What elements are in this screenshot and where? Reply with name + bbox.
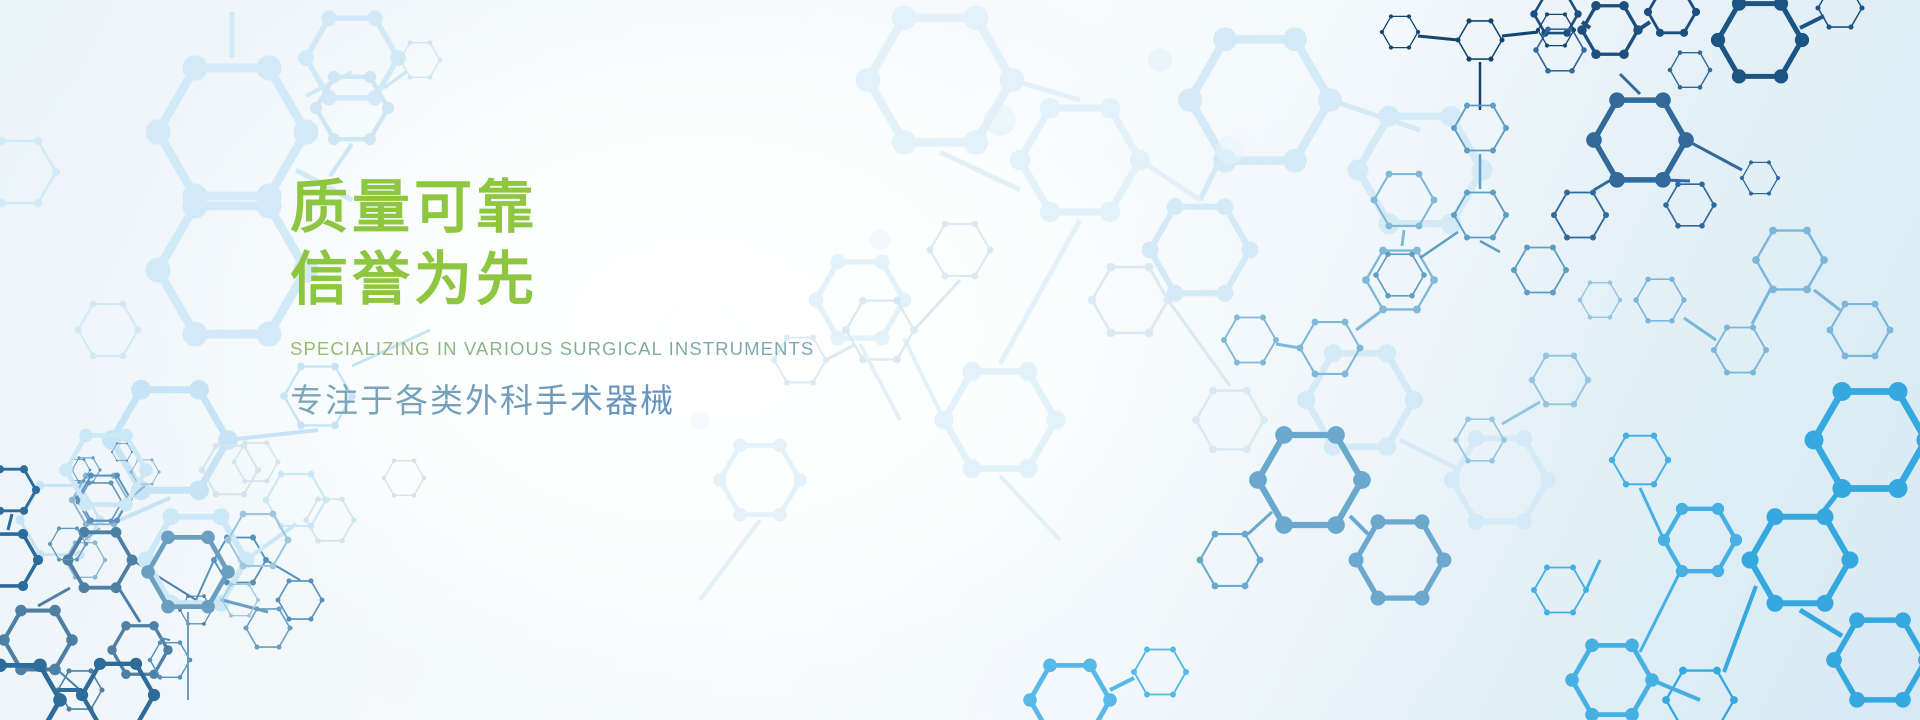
molecule-cluster-mid-right-vert bbox=[1373, 102, 1569, 298]
molecule-cluster-right-center bbox=[1142, 27, 1557, 529]
molecule-cluster-bottom-center-bright bbox=[1023, 646, 1189, 720]
molecule-cluster-left-lower bbox=[63, 458, 161, 579]
hero-banner: 质量可靠 信誉为先 SPECIALIZING IN VARIOUS SURGIC… bbox=[0, 0, 1920, 720]
molecule-cluster-lower-center bbox=[220, 511, 292, 618]
molecule-cluster-navy-y bbox=[1380, 12, 1576, 110]
molecule-cluster-bottom-mid bbox=[141, 531, 292, 700]
molecule-cluster-right-hex-big bbox=[1197, 426, 1452, 605]
molecule-cluster-center-left bbox=[59, 429, 329, 612]
molecule-cluster-right-lower-mid bbox=[1633, 227, 1893, 376]
molecule-cluster-right-chain bbox=[1221, 171, 1438, 378]
molecule-cluster-right-pale-lower bbox=[1453, 280, 1622, 463]
molecule-cluster-upper-right-mid bbox=[1533, 26, 1780, 240]
molecule-cluster-left-upper-chain bbox=[48, 442, 133, 561]
molecule-cluster-top-right-navy bbox=[1530, 0, 1700, 59]
molecule-cluster-bottom-left-navy bbox=[0, 465, 160, 720]
subtitle-english: SPECIALIZING IN VARIOUS SURGICAL INSTRUM… bbox=[290, 338, 1010, 360]
molecule-cluster-bottom-right-cyan2 bbox=[1531, 433, 1742, 720]
molecule-cluster-near-headline bbox=[310, 40, 442, 176]
headline-line-2: 信誉为先 bbox=[290, 248, 1010, 310]
molecule-cluster-bottom-right-bright bbox=[1662, 382, 1920, 720]
molecule-cluster-left-diagonal bbox=[65, 458, 325, 679]
subtitle-chinese: 专注于各类外科手术器械 bbox=[290, 374, 1010, 422]
headline-line-1: 质量可靠 bbox=[290, 176, 1010, 238]
hero-copy: 质量可靠 信誉为先 SPECIALIZING IN VARIOUS SURGIC… bbox=[290, 176, 1010, 422]
molecule-cluster-bottom-grey bbox=[199, 440, 427, 543]
molecule-cluster-top-right-hex bbox=[1711, 0, 1865, 84]
molecule-cluster-bottom-left-dark bbox=[0, 527, 214, 712]
